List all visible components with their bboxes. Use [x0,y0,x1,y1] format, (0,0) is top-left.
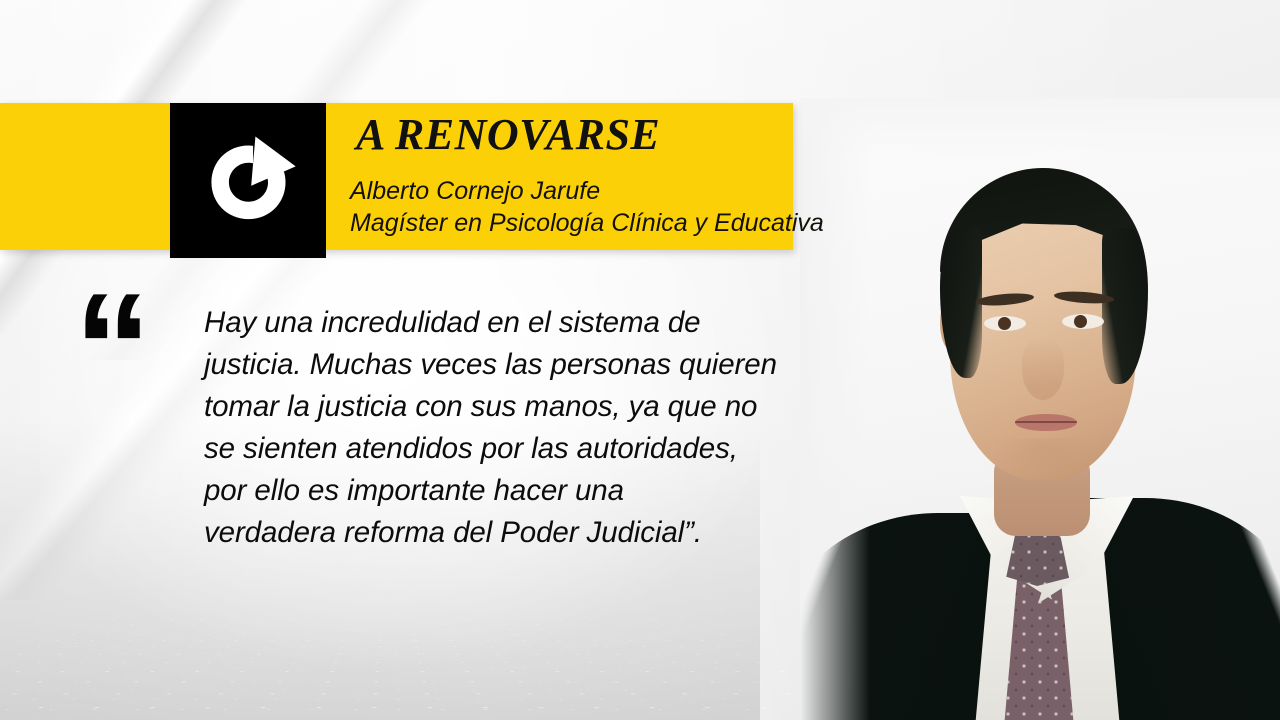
quote-line: se sienten atendidos por las autoridades… [204,428,804,470]
background-dot-field-2 [0,638,923,720]
quote-text: Hay una incredulidad en el sistema dejus… [204,302,804,554]
quote-line: Hay una incredulidad en el sistema de [204,302,804,344]
quote-line: justicia. Muchas veces las personas quie… [204,344,804,386]
slide-canvas: A RENOVARSE Alberto Cornejo Jarufe Magís… [0,0,1280,720]
portrait-iris-right [1074,315,1087,328]
portrait-mouth-line [1015,421,1077,423]
program-title: A RENOVARSE [356,113,660,157]
quote-line: por ello es importante hacer una [204,470,804,512]
portrait-iris-left [998,317,1011,330]
portrait-chin [996,438,1092,472]
host-name: Alberto Cornejo Jarufe [350,176,600,206]
quote-line: verdadera reforma del Poder Judicial”. [204,512,804,554]
logo-box [170,103,326,258]
portrait-photo [800,98,1280,720]
quote-line: tomar la justicia con sus manos, ya que … [204,386,804,428]
quote-open-mark: “ [74,286,148,410]
portrait-nose [1022,338,1064,400]
host-credentials: Magíster en Psicología Clínica y Educati… [350,208,824,238]
circular-arrow-renew-icon [195,125,301,231]
